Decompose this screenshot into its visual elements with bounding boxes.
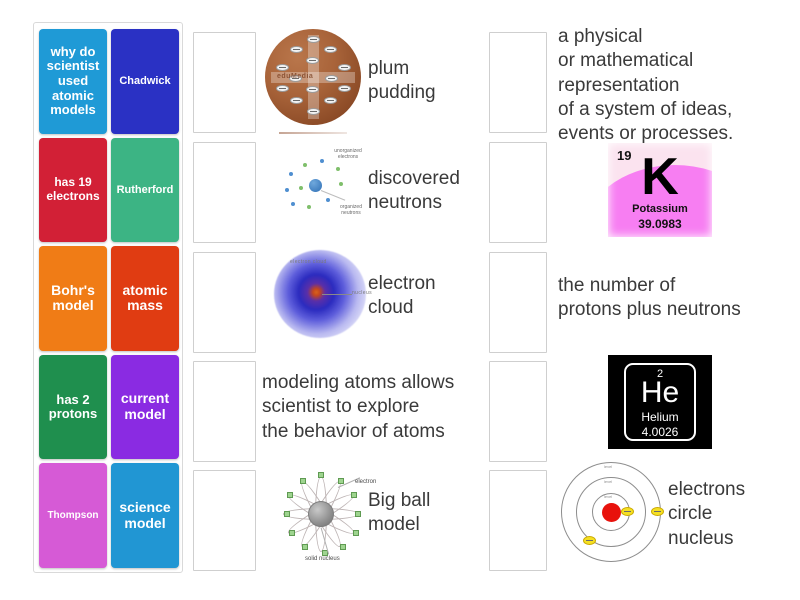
tile-label: Thompson bbox=[47, 510, 98, 521]
electron-cloud-diagram: electron cloud nucleus bbox=[272, 250, 372, 342]
tile-label: atomic mass bbox=[113, 283, 177, 314]
drop-slot-8[interactable] bbox=[489, 252, 547, 353]
tile-current-model[interactable]: current model bbox=[111, 355, 179, 460]
drop-slot-4[interactable] bbox=[193, 361, 256, 462]
tile-why-do-scientist-used-atomic-models[interactable]: why do scientist used atomic models bbox=[39, 29, 107, 134]
drop-slot-2[interactable] bbox=[193, 142, 256, 243]
helium-symbol: He bbox=[608, 377, 712, 409]
plum-pudding-atom-diagram: eduMedia bbox=[265, 29, 361, 125]
plum-pudding-watermark: eduMedia bbox=[277, 73, 313, 80]
item-text-electrons-circle-nucleus: electrons circle nucleus bbox=[668, 478, 745, 551]
tile-science-model[interactable]: science model bbox=[111, 463, 179, 568]
tile-has-19-electrons[interactable]: has 19 electrons bbox=[39, 138, 107, 243]
helium-name: Helium bbox=[608, 410, 712, 424]
potassium-symbol: K bbox=[608, 151, 712, 203]
potassium-atomic-weight: 39.0983 bbox=[608, 217, 712, 231]
tile-chadwick[interactable]: Chadwick bbox=[111, 29, 179, 134]
drop-slot-6[interactable] bbox=[489, 32, 547, 133]
drop-slot-9[interactable] bbox=[489, 361, 547, 462]
bohr-model-diagram: level level level bbox=[559, 460, 663, 564]
tile-label: science model bbox=[113, 500, 177, 531]
tile-label: current model bbox=[113, 391, 177, 422]
ruth-label-top: unorganized electrons bbox=[323, 148, 373, 161]
tile-has-2-protons[interactable]: has 2 protons bbox=[39, 355, 107, 460]
tile-label: Chadwick bbox=[119, 75, 170, 87]
helium-atomic-weight: 4.0026 bbox=[608, 425, 712, 439]
bigball-label-solid-nucleus: solid nucleus bbox=[305, 556, 340, 562]
tile-label: Bohr's model bbox=[41, 283, 105, 314]
potassium-name: Potassium bbox=[608, 203, 712, 215]
tile-thompson[interactable]: Thompson bbox=[39, 463, 107, 568]
item-text-big-ball-model: Big ball model bbox=[368, 489, 430, 538]
item-text-electron-cloud: electron cloud bbox=[368, 272, 436, 321]
helium-periodic-tile: 2 He Helium 4.0026 bbox=[608, 355, 712, 449]
item-text-discovered-neutrons: discovered neutrons bbox=[368, 167, 460, 216]
item-text-modeling-atoms: modeling atoms allows scientist to explo… bbox=[262, 371, 454, 444]
answer-tile-bank[interactable]: why do scientist used atomic models Chad… bbox=[33, 22, 183, 573]
tile-label: has 19 electrons bbox=[41, 176, 105, 203]
bigball-label-electron: electron bbox=[355, 479, 376, 485]
item-text-plum-pudding: plum pudding bbox=[368, 57, 436, 106]
potassium-periodic-tile: 19 K Potassium 39.0983 bbox=[608, 143, 712, 237]
cloud-label-electron-cloud: electron cloud bbox=[290, 259, 327, 265]
rutherford-scattered-electrons-diagram: unorganized electrons organized neutrons bbox=[279, 146, 375, 224]
item-text-mass-number-definition: the number of protons plus neutrons bbox=[558, 274, 741, 323]
drop-slot-5[interactable] bbox=[193, 470, 256, 571]
tile-bohrs-model[interactable]: Bohr's model bbox=[39, 246, 107, 351]
tile-label: has 2 protons bbox=[41, 393, 105, 422]
tile-rutherford[interactable]: Rutherford bbox=[111, 138, 179, 243]
drop-slot-1[interactable] bbox=[193, 32, 256, 133]
item-text-model-definition: a physical or mathematical representatio… bbox=[558, 25, 733, 147]
drop-slot-3[interactable] bbox=[193, 252, 256, 353]
drop-slot-7[interactable] bbox=[489, 142, 547, 243]
tile-atomic-mass[interactable]: atomic mass bbox=[111, 246, 179, 351]
ruth-label-bottom: organized neutrons bbox=[329, 204, 373, 217]
tile-grid: why do scientist used atomic models Chad… bbox=[39, 29, 179, 568]
drop-slot-10[interactable] bbox=[489, 470, 547, 571]
tile-label: why do scientist used atomic models bbox=[41, 45, 105, 118]
tile-label: Rutherford bbox=[117, 184, 174, 196]
